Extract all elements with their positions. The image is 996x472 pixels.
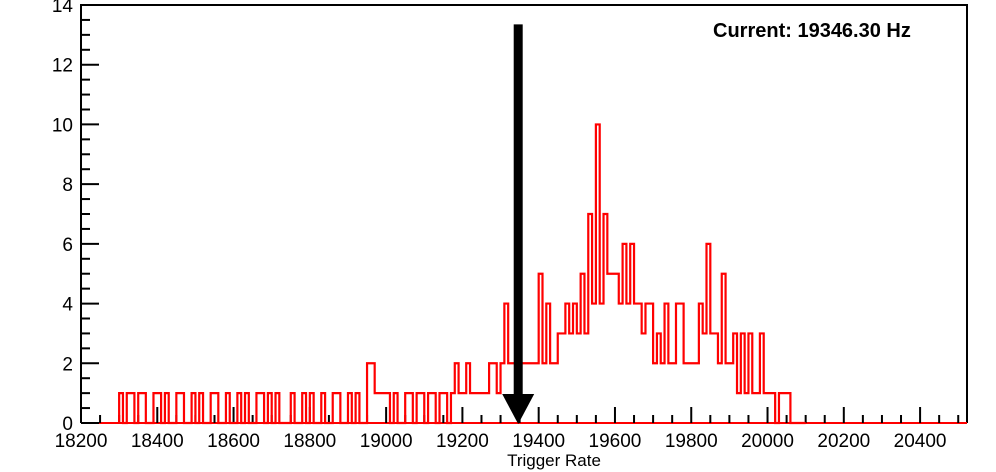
y-axis-tick-label: 10 [52, 115, 73, 136]
y-axis-tick-label: 14 [52, 0, 74, 17]
x-axis-title: Trigger Rate [507, 451, 601, 470]
y-axis-tick-label: 6 [62, 235, 73, 256]
x-axis-tick-label: 19600 [589, 431, 642, 452]
current-value-label: Current: 19346.30 Hz [713, 20, 911, 43]
y-axis-tick-label: 12 [52, 56, 73, 77]
x-axis-tick-label: 20400 [894, 431, 947, 452]
current-value-marker-arrowhead [502, 394, 534, 424]
y-axis-tick-label: 2 [62, 354, 73, 375]
plot-frame [81, 5, 967, 423]
x-axis-tick-label: 18400 [131, 431, 184, 452]
x-axis-tick-label: 18800 [283, 431, 336, 452]
x-axis-tick-label: 18200 [55, 431, 108, 452]
x-axis-tick-label: 19000 [360, 431, 413, 452]
x-axis-tick-label: 18600 [207, 431, 260, 452]
histogram-canvas: 0246810121418200184001860018800190001920… [0, 0, 996, 472]
y-axis-tick-label: 8 [62, 175, 73, 196]
y-axis-tick-label: 4 [62, 295, 73, 316]
x-axis-tick-label: 19200 [436, 431, 489, 452]
x-axis-tick-label: 19800 [665, 431, 718, 452]
histogram-outline [119, 124, 806, 423]
x-axis-tick-label: 20000 [741, 431, 794, 452]
x-axis-tick-label: 19400 [512, 431, 565, 452]
trigger-rate-histogram: 0246810121418200184001860018800190001920… [0, 0, 996, 472]
x-axis-tick-label: 20200 [817, 431, 870, 452]
